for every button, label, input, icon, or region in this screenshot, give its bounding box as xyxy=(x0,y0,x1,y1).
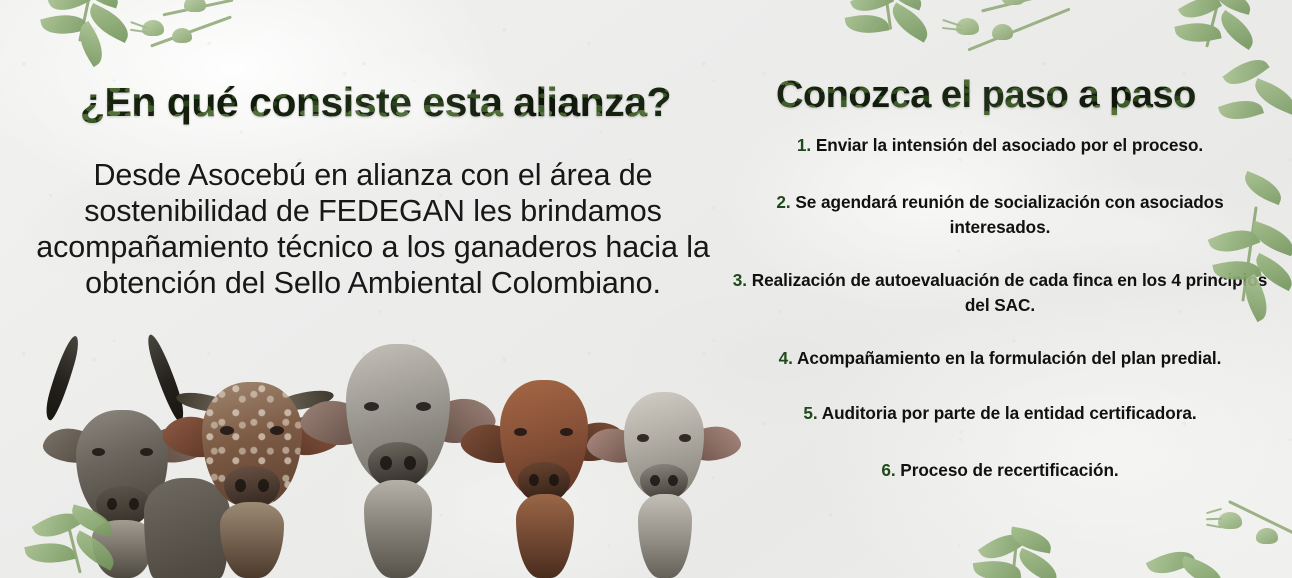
left-column: ¿En qué consiste esta alianza? Desde Aso… xyxy=(0,0,730,578)
dewlap xyxy=(638,494,692,578)
step-number: 6. xyxy=(881,460,895,480)
nostril-left xyxy=(380,456,392,470)
step-item-2: 2. Se agendará reunión de socialización … xyxy=(720,190,1280,240)
nostril-right xyxy=(404,456,416,470)
step-text: Auditoria por parte de la entidad certif… xyxy=(822,403,1197,423)
nostril-right xyxy=(668,475,678,486)
dewlap xyxy=(516,494,574,578)
nostril-right xyxy=(549,474,559,486)
step-number: 1. xyxy=(797,135,811,155)
cebu-cattle-photo xyxy=(40,328,700,578)
step-text: Enviar la intensión del asociado por el … xyxy=(816,135,1203,155)
eye-left xyxy=(637,434,649,442)
horn-left-icon xyxy=(42,333,82,422)
step-text: Proceso de recertificación. xyxy=(900,460,1118,480)
step-number: 4. xyxy=(779,348,793,368)
step-number: 5. xyxy=(803,403,817,423)
dewlap xyxy=(364,480,432,578)
step-item-5: 5. Auditoria por parte de la entidad cer… xyxy=(720,401,1280,426)
step-text: Realización de autoevaluación de cada fi… xyxy=(752,270,1268,315)
eye-left xyxy=(364,402,379,411)
step-item-6: 6. Proceso de recertificación. xyxy=(720,458,1280,483)
dewlap xyxy=(220,502,284,578)
step-number: 3. xyxy=(733,270,747,290)
eye-right xyxy=(416,402,431,411)
step-text: Acompañamiento en la formulación del pla… xyxy=(797,348,1221,368)
nostril-left xyxy=(107,498,117,510)
eye-right xyxy=(679,434,691,442)
nostril-left xyxy=(529,474,539,486)
step-text: Se agendará reunión de socialización con… xyxy=(795,192,1223,237)
step-item-4: 4. Acompañamiento en la formulación del … xyxy=(720,346,1280,371)
page-title-alianza: ¿En qué consiste esta alianza? xyxy=(80,79,671,126)
eye-right xyxy=(270,426,284,435)
step-item-3: 3. Realización de autoevaluación de cada… xyxy=(720,268,1280,318)
poster-canvas: ¿En qué consiste esta alianza? Desde Aso… xyxy=(0,0,1292,578)
nostril-right xyxy=(258,479,269,492)
eye-left xyxy=(514,428,527,436)
eye-right xyxy=(140,448,153,456)
right-column: Conozca el paso a paso 1. Enviar la inte… xyxy=(706,0,1292,578)
nostril-left xyxy=(235,479,246,492)
eye-left xyxy=(220,426,234,435)
nostril-left xyxy=(650,475,660,486)
nostril-right xyxy=(129,498,139,510)
intro-paragraph: Desde Asocebú en alianza con el área de … xyxy=(28,157,718,301)
step-item-1: 1. Enviar la intensión del asociado por … xyxy=(720,133,1280,158)
eye-left xyxy=(92,448,105,456)
eye-right xyxy=(560,428,573,436)
steps-list: 1. Enviar la intensión del asociado por … xyxy=(720,133,1280,483)
step-number: 2. xyxy=(776,192,790,212)
page-title-paso-a-paso: Conozca el paso a paso xyxy=(776,74,1196,117)
